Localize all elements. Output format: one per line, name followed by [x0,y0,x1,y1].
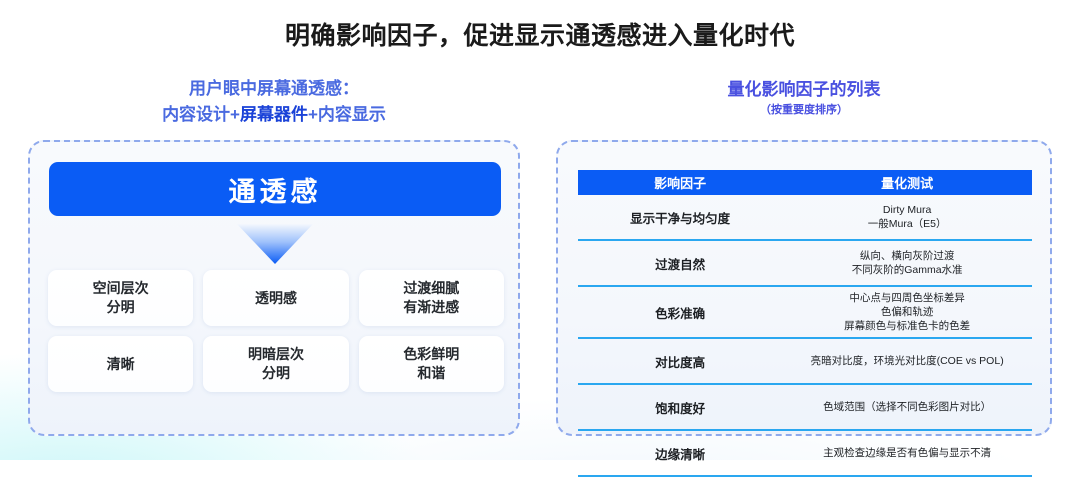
cell-test: Dirty Mura 一般Mura（E5） [782,199,1032,235]
attribute-card-grid: 空间层次 分明 透明感 过渡细腻 有渐进感 清晰 明暗层次 分明 色彩鲜明 和谐 [48,270,504,392]
cell-factor: 饱和度好 [578,389,782,425]
right-dashed-panel: 影响因子 量化测试 显示干净与均匀度 Dirty Mura 一般Mura（E5）… [556,140,1052,436]
cell-test: 主观检查边缘是否有色偏与显示不清 [782,435,1032,471]
transparency-banner: 通透感 [49,162,501,216]
left-heading-emphasis: 屏幕器件 [240,105,308,124]
right-heading-line2: （按重要度排序） [556,102,1052,118]
cell-test: 亮暗对比度，环境光对比度(COE vs POL) [782,343,1032,379]
table-header-row: 影响因子 量化测试 [578,170,1032,195]
cell-factor: 边缘清晰 [578,435,782,471]
card-row-1: 空间层次 分明 透明感 过渡细腻 有渐进感 [48,270,504,326]
cell-test: 纵向、横向灰阶过渡 不同灰阶的Gamma水准 [782,245,1032,281]
table-row[interactable]: 边缘清晰 主观检查边缘是否有色偏与显示不清 [578,431,1032,477]
column-header-test: 量化测试 [782,170,1032,195]
attribute-card[interactable]: 色彩鲜明 和谐 [359,336,504,392]
table-row[interactable]: 显示干净与均匀度 Dirty Mura 一般Mura（E5） [578,195,1032,241]
cell-factor: 对比度高 [578,343,782,379]
left-dashed-panel: 通透感 空间层次 分明 透明感 过渡细腻 有渐进感 清晰 [28,140,520,436]
cell-test: 中心点与四周色坐标差异 色偏和轨迹 屏幕颜色与标准色卡的色差 [782,291,1032,333]
table-row[interactable]: 色彩准确 中心点与四周色坐标差异 色偏和轨迹 屏幕颜色与标准色卡的色差 [578,287,1032,339]
column-header-factor: 影响因子 [578,170,782,195]
attribute-card[interactable]: 空间层次 分明 [48,270,193,326]
attribute-card[interactable]: 过渡细腻 有渐进感 [359,270,504,326]
table-row[interactable]: 过渡自然 纵向、横向灰阶过渡 不同灰阶的Gamma水准 [578,241,1032,287]
left-heading-line1: 用户眼中屏幕通透感： [28,76,520,102]
slide-canvas: 明确影响因子，促进显示通透感进入量化时代 用户眼中屏幕通透感： 内容设计+屏幕器… [0,0,1080,460]
right-section-heading: 量化影响因子的列表 （按重要度排序） [556,78,1052,118]
left-heading-line2: 内容设计+屏幕器件+内容显示 [28,102,520,128]
down-arrow-icon [237,224,313,264]
factors-table: 影响因子 量化测试 显示干净与均匀度 Dirty Mura 一般Mura（E5）… [578,170,1032,477]
attribute-card[interactable]: 透明感 [203,270,348,326]
left-heading-part2: +内容显示 [308,105,386,124]
cell-factor: 显示干净与均匀度 [578,199,782,235]
table-row[interactable]: 饱和度好 色域范围（选择不同色彩图片对比） [578,385,1032,431]
cell-factor: 色彩准确 [578,291,782,333]
attribute-card[interactable]: 清晰 [48,336,193,392]
attribute-card[interactable]: 明暗层次 分明 [203,336,348,392]
right-heading-line1: 量化影响因子的列表 [556,78,1052,102]
table-row[interactable]: 对比度高 亮暗对比度，环境光对比度(COE vs POL) [578,339,1032,385]
left-section-heading: 用户眼中屏幕通透感： 内容设计+屏幕器件+内容显示 [28,76,520,128]
card-row-2: 清晰 明暗层次 分明 色彩鲜明 和谐 [48,336,504,392]
left-heading-part1: 内容设计+ [162,105,240,124]
page-title: 明确影响因子，促进显示通透感进入量化时代 [0,16,1080,52]
cell-factor: 过渡自然 [578,245,782,281]
cell-test: 色域范围（选择不同色彩图片对比） [782,389,1032,425]
